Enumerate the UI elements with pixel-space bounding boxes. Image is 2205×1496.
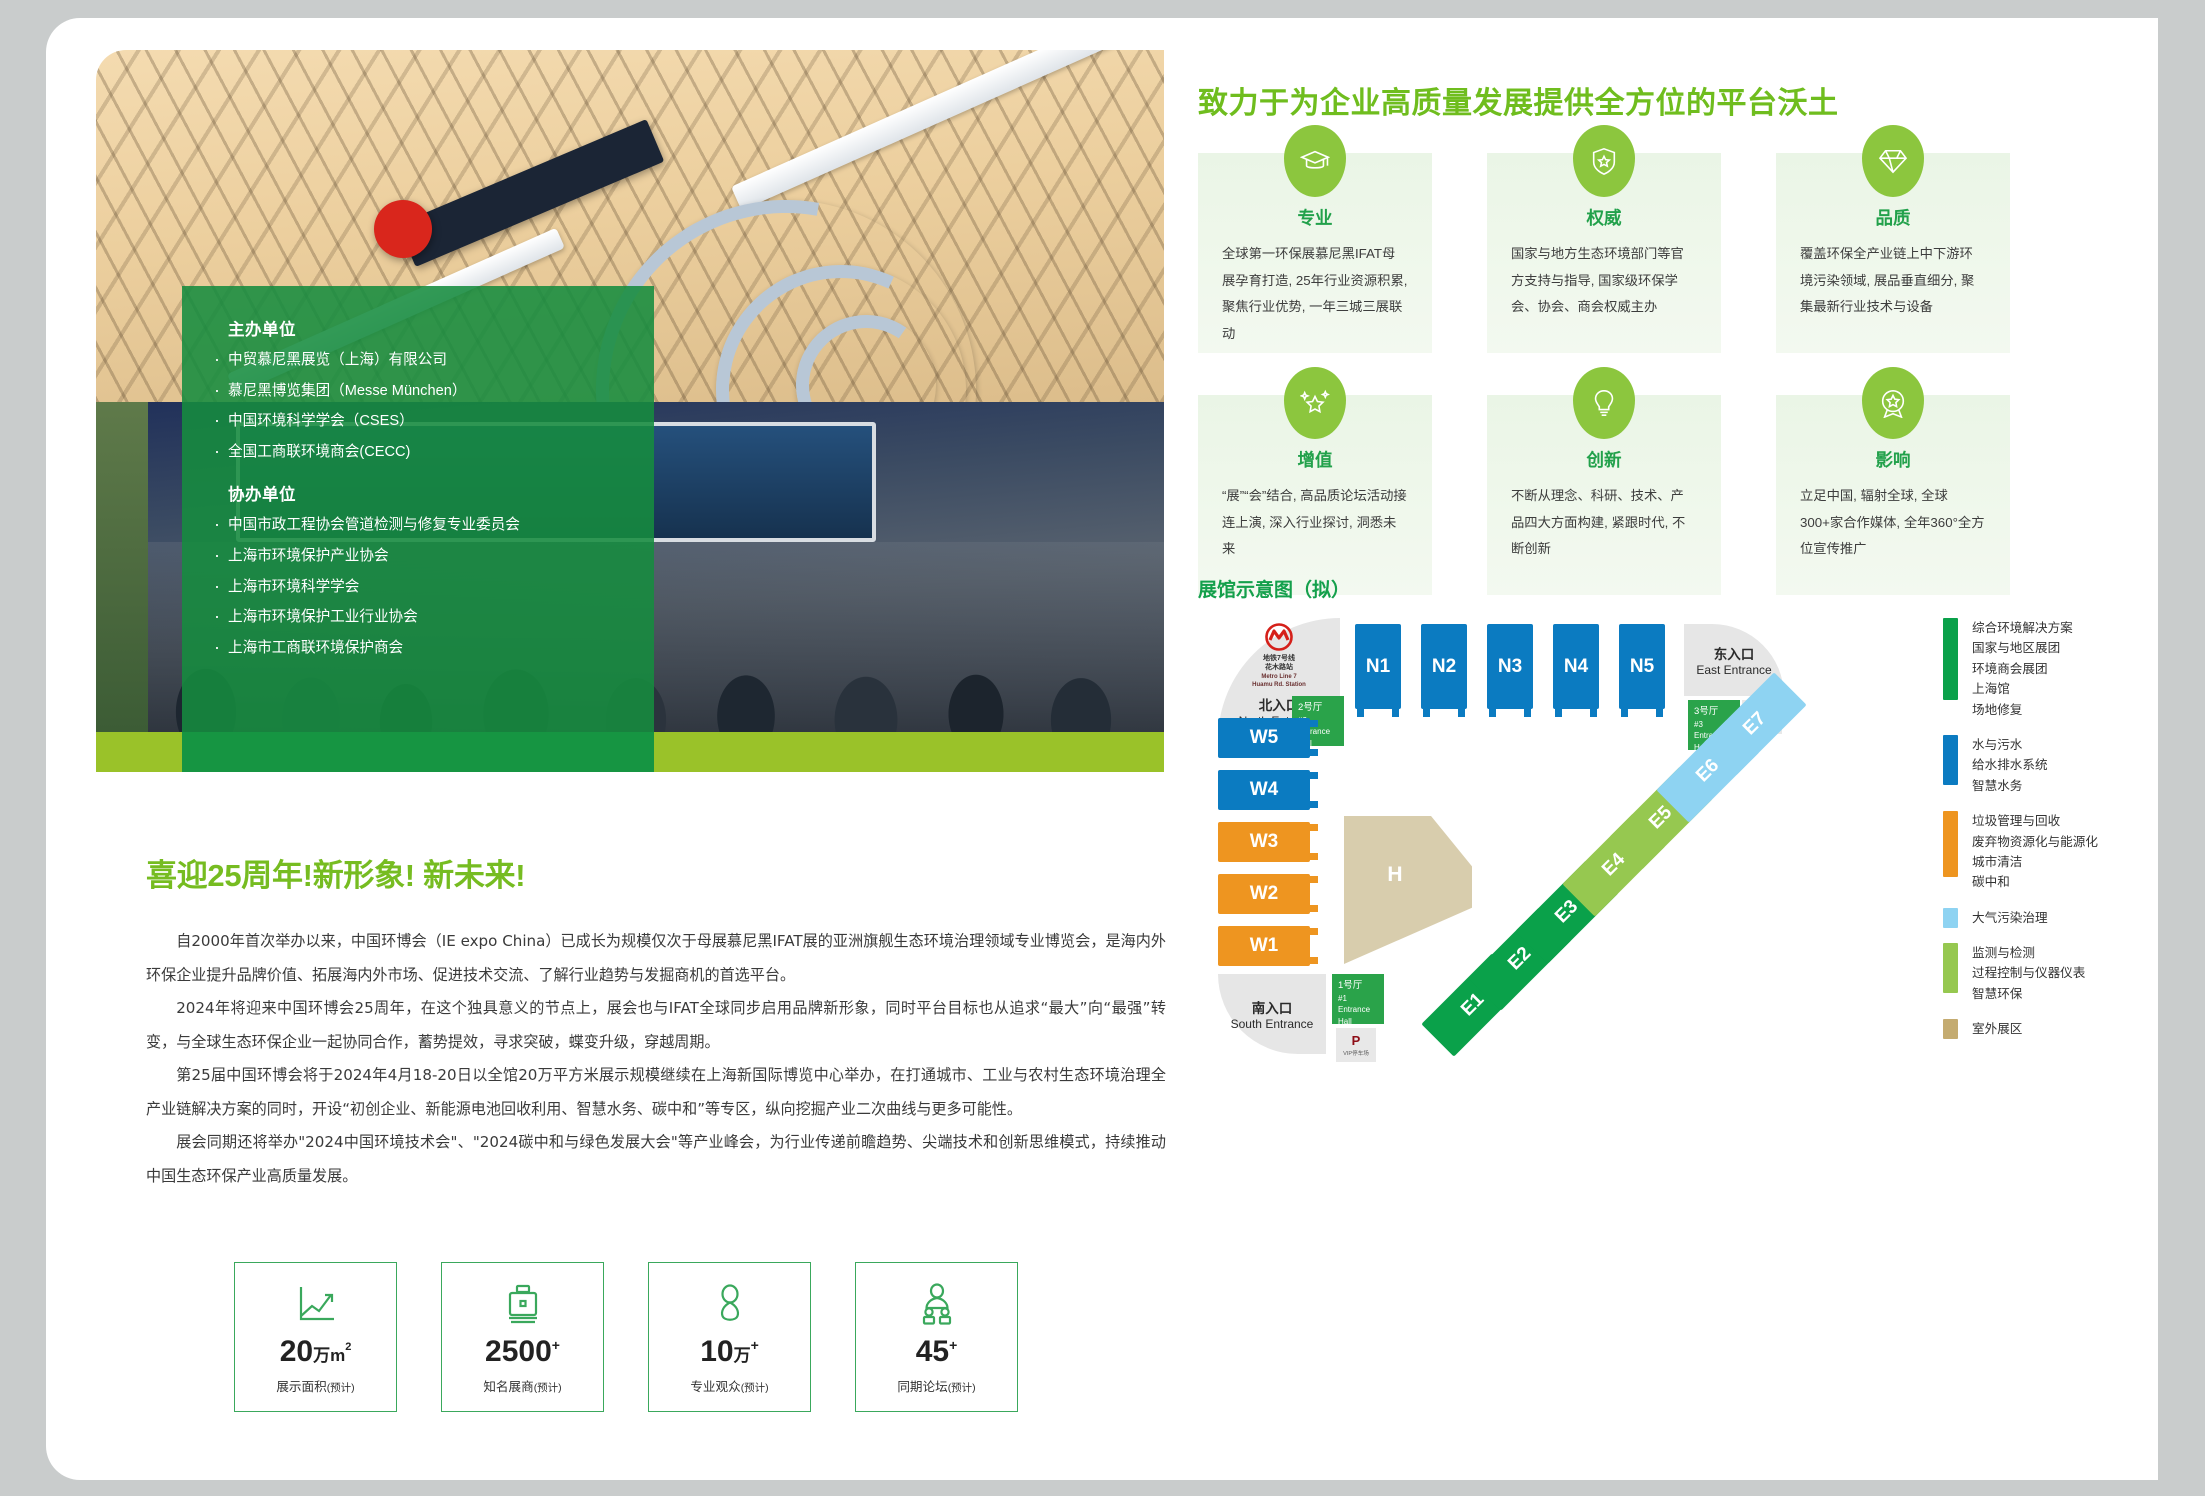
forum-icon	[915, 1283, 959, 1327]
metro-station-info: 地铁7号线 花木路站 Metro Line 7 Huamu Rd. Statio…	[1219, 622, 1339, 689]
medal-icon	[1862, 367, 1924, 439]
stat-label: 专业观众(预计)	[690, 1376, 768, 1395]
venue-map: 地铁7号线 花木路站 Metro Line 7 Huamu Rd. Statio…	[1218, 618, 1918, 1038]
legend-swatch	[1943, 811, 1958, 877]
legend-item: 垃圾管理与回收	[1972, 811, 2098, 831]
page-card: 主办单位 中贸慕尼黑展览（上海）有限公司 慕尼黑博览集团（Messe Münch…	[46, 18, 2158, 1480]
hall-label: W3	[1250, 831, 1279, 853]
feature-card-text: 全球第一环保展慕尼黑IFAT母展孕育打造, 25年行业资源积累, 聚焦行业优势,…	[1222, 241, 1408, 347]
feature-card-text: 立足中国, 辐射全球, 全球300+家合作媒体, 全年360°全方位宣传推广	[1800, 483, 1986, 563]
south-entrance-cn: 南入口	[1252, 997, 1293, 1017]
hall-w4[interactable]: W4	[1218, 770, 1310, 810]
legend-item: 上海馆	[1972, 679, 2073, 699]
stat-value: 2500+	[485, 1337, 560, 1367]
feature-card-text: 覆盖环保全产业链上中下游环境污染领域, 展品垂直细分, 聚集最新行业技术与设备	[1800, 241, 1986, 321]
stat-value: 45+	[916, 1337, 958, 1367]
booth-icon	[501, 1283, 545, 1327]
hall-label: W1	[1250, 935, 1279, 957]
east-entrance-en: East Entrance	[1696, 663, 1771, 677]
diamond-icon	[1862, 125, 1924, 197]
metro-station-cn: 花木路站	[1219, 663, 1339, 672]
parking-label: VIP停车场	[1343, 1049, 1369, 1057]
legend-item: 废弃物资源化与能源化	[1972, 832, 2098, 852]
co-organizer-item: 上海市工商联环境保护商会	[212, 641, 628, 656]
stat-card-exhibition-area: 20万m2 展示面积(预计)	[234, 1262, 397, 1412]
metro-station-en: Huamu Rd. Station	[1219, 681, 1339, 689]
stat-value: 10万+	[700, 1337, 759, 1367]
feature-card-innovation: 创新 不断从理念、科研、技术、产品四大方面构建, 紧跟时代, 不断创新	[1487, 395, 1721, 595]
article-title: 喜迎25周年!新形象! 新未来!	[146, 850, 1166, 895]
section-title: 致力于为企业高质量发展提供全方位的平台沃土	[1198, 78, 2158, 122]
legend-swatch	[1943, 1019, 1958, 1039]
legend-item: 室外展区	[1972, 1019, 2022, 1039]
hall-w3[interactable]: W3	[1218, 822, 1310, 862]
feature-card-quality: 品质 覆盖环保全产业链上中下游环境污染领域, 展品垂直细分, 聚集最新行业技术与…	[1776, 153, 2010, 353]
legend-item: 水与污水	[1972, 735, 2048, 755]
hall-label: N5	[1630, 656, 1654, 678]
visitor-icon	[708, 1283, 752, 1327]
hero-photo-collage: 主办单位 中贸慕尼黑展览（上海）有限公司 慕尼黑博览集团（Messe Münch…	[96, 50, 1164, 772]
stat-label: 知名展商(预计)	[483, 1376, 561, 1395]
star-sparkle-icon	[1284, 367, 1346, 439]
organizer-item: 中国环境科学学会（CSES）	[212, 414, 628, 429]
legend-labels: 室外展区	[1972, 1019, 2022, 1039]
hall-label: N1	[1366, 656, 1390, 678]
legend-item: 场地修复	[1972, 700, 2073, 720]
south-entrance[interactable]: 南入口 South Entrance	[1218, 974, 1326, 1054]
feature-cards-grid: 专业 全球第一环保展慕尼黑IFAT母展孕育打造, 25年行业资源积累, 聚焦行业…	[1198, 153, 2010, 595]
legend-labels: 综合环境解决方案 国家与地区展团 环境商会展团 上海馆 场地修复	[1972, 618, 2073, 720]
article-paragraph: 自2000年首次举办以来，中国环博会（IE expo China）已成长为规模仅…	[146, 925, 1166, 992]
hall-label: N4	[1564, 656, 1588, 678]
photo-side-tint	[96, 402, 148, 732]
legend-labels: 垃圾管理与回收 废弃物资源化与能源化 城市清洁 碳中和	[1972, 811, 2098, 893]
legend-item: 环境商会展团	[1972, 659, 2073, 679]
parking-south: P VIP停车场	[1336, 1028, 1376, 1062]
legend-group-outdoor: 室外展区	[1943, 1019, 2173, 1039]
legend-group-waste: 垃圾管理与回收 废弃物资源化与能源化 城市清洁 碳中和	[1943, 811, 2173, 893]
organizer-item: 全国工商联环境商会(CECC)	[212, 445, 628, 460]
hall-label: W5	[1250, 727, 1279, 749]
organizer-item: 慕尼黑博览集团（Messe München）	[212, 384, 628, 399]
feature-card-text: “展”“会”结合, 高品质论坛活动接连上演, 深入行业探讨, 洞悉未来	[1222, 483, 1408, 563]
hall-label: E7	[1739, 708, 1771, 740]
co-organizer-item: 上海市环境科学学会	[212, 580, 628, 595]
hall-n4[interactable]: N4	[1553, 624, 1599, 709]
growth-chart-icon	[294, 1283, 338, 1327]
feature-card-title: 权威	[1511, 205, 1697, 230]
legend-swatch	[1943, 943, 1958, 993]
shield-star-icon	[1573, 125, 1635, 197]
co-organizer-item: 上海市环境保护产业协会	[212, 549, 628, 564]
feature-card-text: 国家与地方生态环境部门等官方支持与指导, 国家级环保学会、协会、商会权威主办	[1511, 241, 1697, 321]
entrance-hall-1[interactable]: 1号厅 #1 Entrance Hall	[1332, 974, 1384, 1024]
stat-label: 展示面积(预计)	[276, 1376, 354, 1395]
hall-n2[interactable]: N2	[1421, 624, 1467, 709]
hall-label: W2	[1250, 883, 1279, 905]
entrance-hall-1-cn: 1号厅	[1338, 979, 1378, 993]
hall-h[interactable]: H	[1344, 816, 1472, 964]
hall-w2[interactable]: W2	[1218, 874, 1310, 914]
feature-card-text: 不断从理念、科研、技术、产品四大方面构建, 紧跟时代, 不断创新	[1511, 483, 1697, 563]
stat-value: 20万m2	[280, 1337, 352, 1367]
article-body: 自2000年首次举办以来，中国环博会（IE expo China）已成长为规模仅…	[146, 925, 1166, 1193]
legend-item: 城市清洁	[1972, 852, 2098, 872]
article-paragraph: 展会同期还将举办"2024中国环境技术会"、"2024碳中和与绿色发展大会"等产…	[146, 1126, 1166, 1193]
hall-n5[interactable]: N5	[1619, 624, 1665, 709]
article-section: 喜迎25周年!新形象! 新未来! 自2000年首次举办以来，中国环博会（IE e…	[146, 850, 1166, 1193]
legend-group-comprehensive: 综合环境解决方案 国家与地区展团 环境商会展团 上海馆 场地修复	[1943, 618, 2173, 720]
feature-card-title: 增值	[1222, 447, 1408, 472]
graduation-cap-icon	[1284, 125, 1346, 197]
feature-card-value-added: 增值 “展”“会”结合, 高品质论坛活动接连上演, 深入行业探讨, 洞悉未来	[1198, 395, 1432, 595]
feature-card-title: 品质	[1800, 205, 1986, 230]
stat-card-visitors: 10万+ 专业观众(预计)	[648, 1262, 811, 1412]
legend-swatch	[1943, 735, 1958, 785]
feature-card-authority: 权威 国家与地方生态环境部门等官方支持与指导, 国家级环保学会、协会、商会权威主…	[1487, 153, 1721, 353]
legend-group-water: 水与污水 给水排水系统 智慧水务	[1943, 735, 2173, 796]
legend-item: 综合环境解决方案	[1972, 618, 2073, 638]
hall-label: N3	[1498, 656, 1522, 678]
feature-card-influence: 影响 立足中国, 辐射全球, 全球300+家合作媒体, 全年360°全方位宣传推…	[1776, 395, 2010, 595]
article-paragraph: 2024年将迎来中国环博会25周年，在这个独具意义的节点上，展会也与IFAT全球…	[146, 992, 1166, 1059]
legend-group-air: 大气污染治理	[1943, 908, 2173, 928]
hall-n1[interactable]: N1	[1355, 624, 1401, 709]
venue-map-legend: 综合环境解决方案 国家与地区展团 环境商会展团 上海馆 场地修复 水与污水 给水…	[1943, 618, 2173, 1055]
entrance-hall-2-cn: 2号厅	[1298, 701, 1338, 715]
parking-icon: P	[1352, 1034, 1361, 1047]
organizer-item: 中贸慕尼黑展览（上海）有限公司	[212, 353, 628, 368]
hall-n3[interactable]: N3	[1487, 624, 1533, 709]
legend-item: 国家与地区展团	[1972, 638, 2073, 658]
stats-row: 20万m2 展示面积(预计) 2500+	[234, 1262, 1018, 1412]
co-organizers-heading: 协办单位	[228, 481, 628, 505]
photo-bottom-strip-accent	[182, 732, 654, 772]
legend-item: 智慧环保	[1972, 984, 2085, 1004]
ceiling-beam	[731, 50, 1164, 210]
legend-group-monitoring: 监测与检测 过程控制与仪器仪表 智慧环保	[1943, 943, 2173, 1004]
entrance-hall-1-num: #1	[1338, 993, 1378, 1005]
legend-swatch	[1943, 908, 1958, 928]
legend-item: 过程控制与仪器仪表	[1972, 963, 2085, 983]
organizer-info-panel: 主办单位 中贸慕尼黑展览（上海）有限公司 慕尼黑博览集团（Messe Münch…	[182, 286, 654, 732]
stat-card-exhibitors: 2500+ 知名展商(预计)	[441, 1262, 604, 1412]
legend-labels: 水与污水 给水排水系统 智慧水务	[1972, 735, 2048, 796]
metro-line-cn: 地铁7号线	[1219, 654, 1339, 663]
hall-w5[interactable]: W5	[1218, 718, 1310, 758]
feature-card-title: 影响	[1800, 447, 1986, 472]
legend-swatch	[1943, 618, 1958, 700]
legend-item: 智慧水务	[1972, 776, 2048, 796]
metro-line-en: Metro Line 7	[1219, 673, 1339, 681]
left-column: 主办单位 中贸慕尼黑展览（上海）有限公司 慕尼黑博览集团（Messe Münch…	[96, 50, 1174, 772]
co-organizer-item: 中国市政工程协会管道检测与修复专业委员会	[212, 518, 628, 533]
south-entrance-en: South Entrance	[1231, 1017, 1314, 1031]
organizers-heading: 主办单位	[228, 316, 628, 340]
hall-label: N2	[1432, 656, 1456, 678]
legend-labels: 监测与检测 过程控制与仪器仪表 智慧环保	[1972, 943, 2085, 1004]
legend-item: 给水排水系统	[1972, 755, 2048, 775]
hall-w1[interactable]: W1	[1218, 926, 1310, 966]
hall-label: W4	[1250, 779, 1279, 801]
legend-item: 大气污染治理	[1972, 908, 2048, 928]
feature-card-title: 专业	[1222, 205, 1408, 230]
co-organizer-item: 上海市环境保护工业行业协会	[212, 610, 628, 625]
article-paragraph: 第25届中国环博会将于2024年4月18-20日以全馆20万平方米展示规模继续在…	[146, 1059, 1166, 1126]
legend-item: 碳中和	[1972, 872, 2098, 892]
stat-card-forums: 45+ 同期论坛(预计)	[855, 1262, 1018, 1412]
right-column: 致力于为企业高质量发展提供全方位的平台沃土 专业 全球第一环保展慕尼黑IFAT母…	[1198, 78, 2158, 122]
entrance-hall-1-en: Entrance Hall	[1338, 1004, 1378, 1027]
legend-labels: 大气污染治理	[1972, 908, 2048, 928]
feature-card-professional: 专业 全球第一环保展慕尼黑IFAT母展孕育打造, 25年行业资源积累, 聚焦行业…	[1198, 153, 1432, 353]
lightbulb-icon	[1573, 367, 1635, 439]
hall-label: H	[1387, 863, 1402, 887]
feature-card-title: 创新	[1511, 447, 1697, 472]
venue-map-title: 展馆示意图（拟）	[1198, 575, 1350, 602]
east-entrance-cn: 东入口	[1714, 643, 1755, 663]
legend-item: 监测与检测	[1972, 943, 2085, 963]
stat-label: 同期论坛(预计)	[897, 1376, 975, 1395]
metro-logo-icon	[1264, 622, 1294, 652]
